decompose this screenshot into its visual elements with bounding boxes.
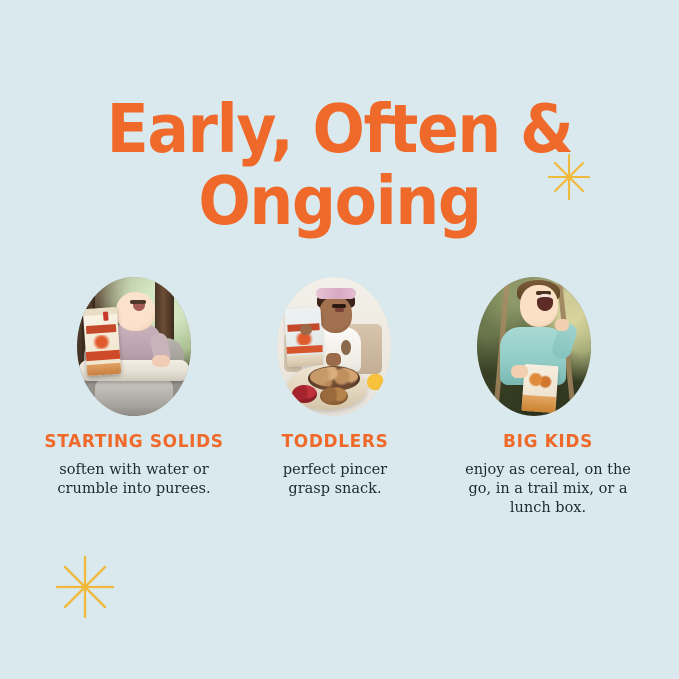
stage-description-line: lunch box.	[430, 499, 666, 518]
stage-description-line: grasp snack.	[240, 480, 430, 499]
stage-description: perfect pincer grasp snack.	[240, 461, 430, 499]
photo-detail	[511, 365, 528, 379]
photo-detail	[326, 353, 341, 366]
stage-photo-toddlers	[277, 277, 391, 416]
poster-canvas: Early, Often & Ongoing	[0, 0, 679, 679]
photo-detail	[310, 367, 358, 386]
product-pouch	[285, 307, 324, 367]
headline-line-2: Ongoing	[27, 165, 652, 237]
stage-description-line: crumble into purees.	[13, 480, 255, 499]
sparkle-star-icon	[50, 552, 120, 622]
stage-title: TODDLERS	[246, 432, 425, 452]
stage-photo-row	[0, 277, 679, 417]
photo-detail	[537, 294, 553, 311]
photo-detail	[341, 340, 351, 355]
stage-caption-big-kids: BIG KIDS enjoy as cereal, on the go, in …	[430, 432, 666, 518]
photo-detail	[319, 296, 352, 332]
photo-detail	[316, 288, 356, 299]
stage-description-line: soften with water or	[13, 461, 255, 480]
stage-caption-starting-solids: STARTING SOLIDS soften with water or cru…	[13, 432, 255, 499]
photo-detail	[555, 319, 570, 332]
stage-description-line: enjoy as cereal, on the	[430, 461, 666, 480]
photo-circle	[77, 277, 191, 416]
photo-detail	[116, 292, 155, 331]
headline-line-1: Early, Often &	[27, 93, 652, 165]
photo-detail	[152, 355, 170, 368]
photo-detail	[335, 308, 344, 312]
photo-detail	[520, 285, 558, 327]
product-pouch	[83, 306, 122, 375]
photo-circle	[477, 277, 591, 416]
stage-description: soften with water or crumble into purees…	[13, 461, 255, 499]
stage-title: BIG KIDS	[437, 432, 659, 452]
photo-detail	[95, 378, 173, 416]
photo-circle	[277, 277, 391, 416]
stage-photo-starting-solids	[77, 277, 191, 416]
page-title: Early, Often & Ongoing	[27, 93, 652, 237]
photo-detail	[367, 374, 383, 389]
stage-caption-toddlers: TODDLERS perfect pincer grasp snack.	[240, 432, 430, 499]
photo-detail	[133, 304, 145, 311]
stage-description: enjoy as cereal, on the go, in a trail m…	[430, 461, 666, 518]
photo-detail	[320, 387, 347, 405]
stage-photo-big-kids	[477, 277, 591, 416]
stage-description-line: go, in a trail mix, or a	[430, 480, 666, 499]
stage-title: STARTING SOLIDS	[20, 432, 247, 452]
stage-description-line: perfect pincer	[240, 461, 430, 480]
